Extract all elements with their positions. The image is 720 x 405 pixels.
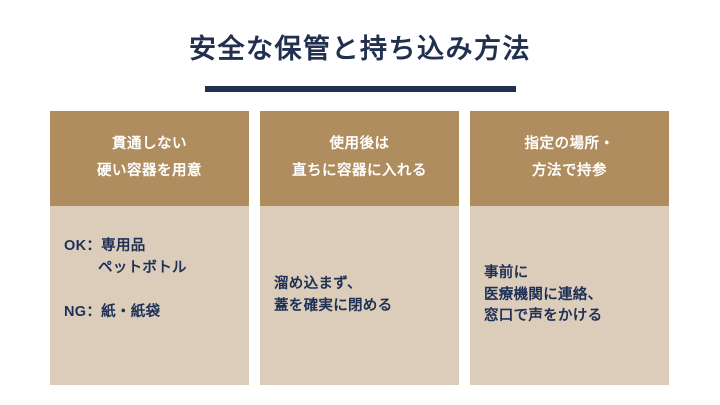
card-header-line: 方法で持参 <box>532 164 607 180</box>
title-underline-rule <box>205 86 516 92</box>
body-line: NG：紙・紙袋 <box>64 302 235 324</box>
card-header-line: 直ちに容器に入れる <box>292 164 427 180</box>
body-line: OK：専用品 <box>64 236 235 258</box>
page-title: 安全な保管と持ち込み方法 <box>0 34 720 65</box>
card-designated-place: 指定の場所・ 方法で持参 事前に 医療機関に連絡、 窓口で声をかける <box>470 111 669 385</box>
body-line: 医療機関に連絡、 <box>484 285 655 307</box>
title-block: 安全な保管と持ち込み方法 <box>0 34 720 65</box>
body-group: NG：紙・紙袋 <box>64 302 235 324</box>
card-header: 指定の場所・ 方法で持参 <box>470 111 669 206</box>
card-header-line: 指定の場所・ <box>525 137 615 153</box>
body-group: 溜め込まず、 蓋を確実に閉める <box>274 274 445 318</box>
card-after-use: 使用後は 直ちに容器に入れる 溜め込まず、 蓋を確実に閉める <box>260 111 459 385</box>
body-line: 溜め込まず、 <box>274 274 445 296</box>
card-body: OK：専用品 ペットボトル NG：紙・紙袋 <box>50 206 249 385</box>
body-line: ペットボトル <box>64 258 235 280</box>
card-header-line: 硬い容器を用意 <box>97 164 202 180</box>
body-line: 窓口で声をかける <box>484 306 655 328</box>
body-group: 事前に 医療機関に連絡、 窓口で声をかける <box>484 263 655 328</box>
slide-canvas: 安全な保管と持ち込み方法 貫通しない 硬い容器を用意 OK：専用品 ペットボトル… <box>0 0 720 405</box>
card-header-line: 使用後は <box>330 137 390 153</box>
card-header: 使用後は 直ちに容器に入れる <box>260 111 459 206</box>
card-storage-container: 貫通しない 硬い容器を用意 OK：専用品 ペットボトル NG：紙・紙袋 <box>50 111 249 385</box>
body-group: OK：専用品 ペットボトル <box>64 236 235 280</box>
body-line: 事前に <box>484 263 655 285</box>
card-body: 溜め込まず、 蓋を確実に閉める <box>260 206 459 385</box>
card-header: 貫通しない 硬い容器を用意 <box>50 111 249 206</box>
body-line: 蓋を確実に閉める <box>274 296 445 318</box>
card-header-line: 貫通しない <box>112 137 187 153</box>
card-body: 事前に 医療機関に連絡、 窓口で声をかける <box>470 206 669 385</box>
card-row: 貫通しない 硬い容器を用意 OK：専用品 ペットボトル NG：紙・紙袋 使用後は… <box>50 111 670 385</box>
